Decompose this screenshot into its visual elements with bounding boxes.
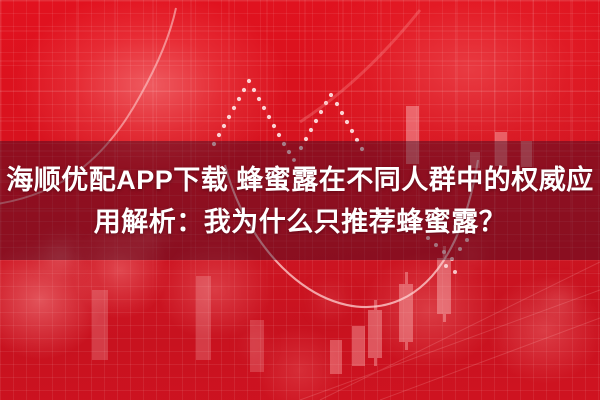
diagonal-grid-lines — [300, 262, 600, 400]
banner-title: 海顺优配APP下载 蜂蜜露在不同人群中的权威应 用解析：我为什么只推荐蜂蜜露？ — [0, 141, 600, 260]
article-banner: 海顺优配APP下载 蜂蜜露在不同人群中的权威应 用解析：我为什么只推荐蜂蜜露？ — [0, 0, 600, 400]
title-line-1: 海顺优配APP下载 蜂蜜露在不同人群中的权威应 — [6, 159, 594, 201]
bar-group-lower-left — [92, 276, 264, 372]
bar-group-lower-right — [330, 246, 451, 374]
title-line-2: 用解析：我为什么只推荐蜂蜜露？ — [94, 201, 507, 243]
diagonal-streak — [300, 10, 420, 122]
